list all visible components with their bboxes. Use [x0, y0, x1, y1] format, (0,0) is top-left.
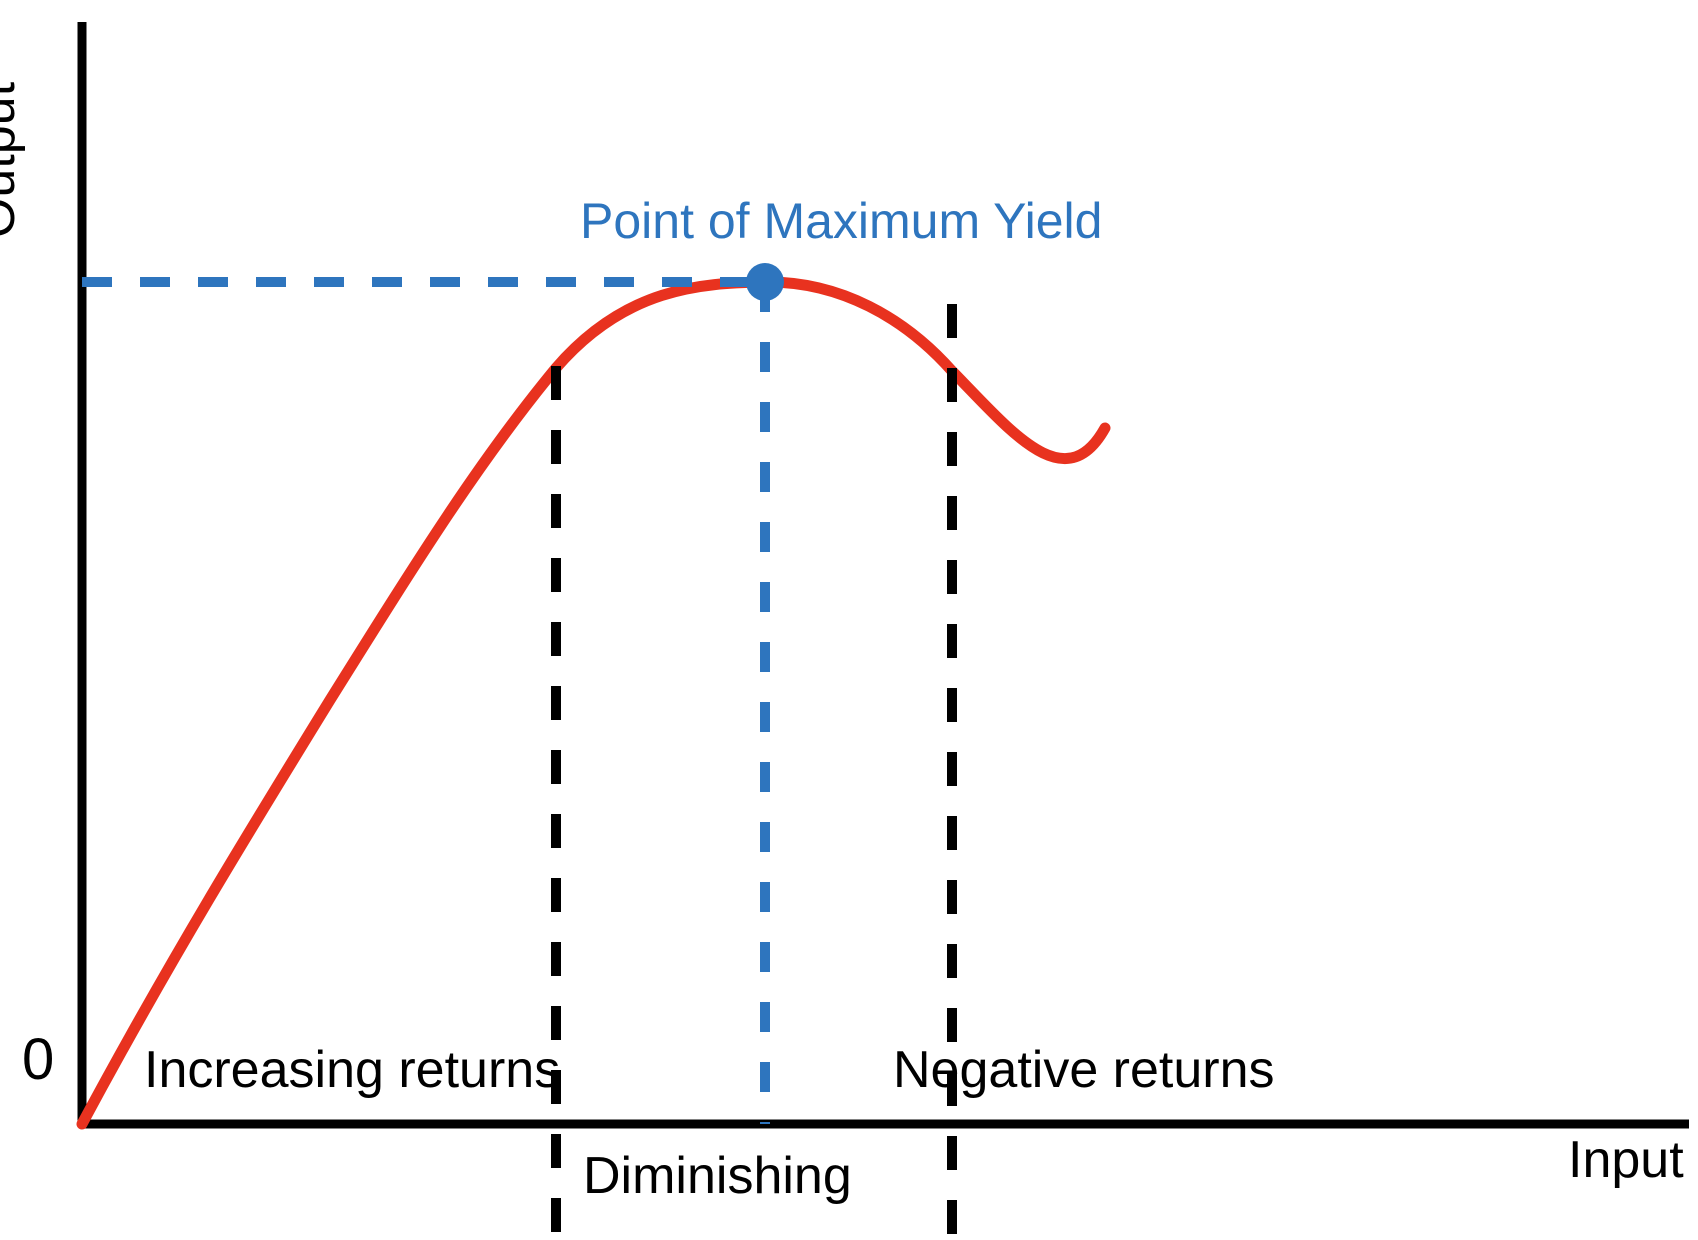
- chart-canvas: Output Input 0 Increasing returns Dimini…: [0, 0, 1698, 1240]
- zone-label-negative-returns: Negative returns: [893, 1043, 1275, 1098]
- y-axis-label: Output: [0, 60, 25, 260]
- origin-label: 0: [22, 1030, 54, 1091]
- zone-label-diminishing-returns-line1: Diminishing: [583, 1149, 833, 1204]
- zone-label-increasing-returns: Increasing returns: [144, 1043, 560, 1098]
- max-yield-point-marker: [746, 263, 784, 301]
- annotation-point-of-maximum-yield: Point of Maximum Yield: [580, 195, 1102, 248]
- x-axis-label: Input: [1568, 1133, 1684, 1188]
- zone-label-diminishing-returns: Diminishing returns: [583, 1040, 833, 1240]
